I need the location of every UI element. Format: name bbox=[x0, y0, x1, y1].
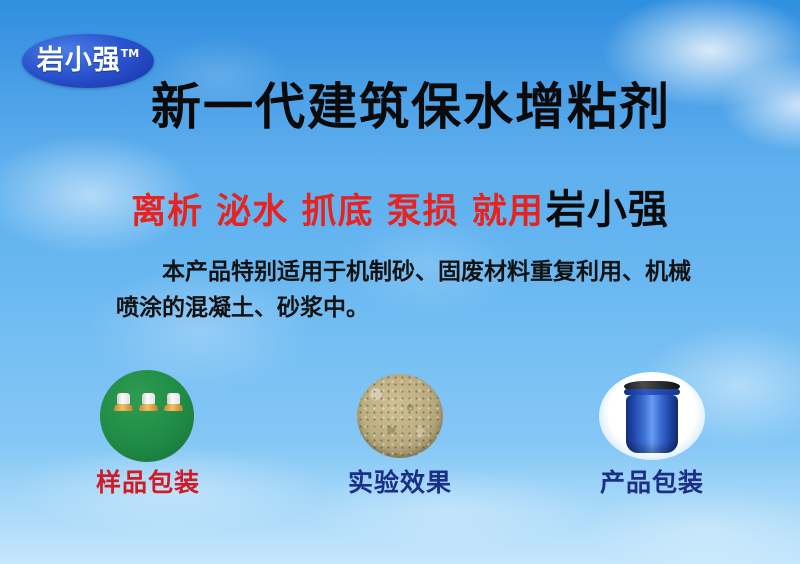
description-paragraph: 本产品特别适用于机制砂、固废材料重复利用、机械喷涂的混凝土、砂浆中。 bbox=[116, 255, 696, 326]
aggregate-texture bbox=[357, 374, 443, 458]
product-item-sample-packaging: 样品包装 bbox=[58, 368, 238, 495]
mortar-sample-image bbox=[341, 368, 459, 464]
bottle-icon bbox=[162, 393, 184, 449]
page-title: 新一代建筑保水增粘剂 bbox=[0, 78, 800, 136]
brand-logo-text: 岩小强 bbox=[37, 47, 121, 74]
product-caption: 样品包装 bbox=[96, 470, 200, 495]
drum-icon bbox=[624, 381, 680, 453]
slogan-brand: 岩小强 bbox=[546, 187, 669, 233]
product-item-test-result: 实验效果 bbox=[310, 368, 490, 495]
sample-bottles-image bbox=[89, 368, 207, 464]
promotional-poster: 岩小强 TM 新一代建筑保水增粘剂 离析 泌水 抓底 泵损 就用岩小强 本产品特… bbox=[0, 0, 800, 564]
bottle-icon bbox=[112, 393, 134, 449]
product-caption: 产品包装 bbox=[600, 470, 704, 495]
mortar-disc bbox=[357, 374, 443, 458]
product-showcase: 样品包装 实验效果 产品包装 bbox=[0, 368, 800, 495]
product-item-product-packaging: 产品包装 bbox=[562, 368, 742, 495]
bottle-icon bbox=[137, 393, 159, 449]
trademark-icon: TM bbox=[121, 48, 139, 59]
slogan-problems: 离析 泌水 抓底 泵损 就用 bbox=[131, 192, 544, 232]
product-caption: 实验效果 bbox=[348, 470, 452, 495]
drum-body bbox=[626, 395, 678, 453]
blue-drum-image bbox=[593, 368, 711, 464]
slogan-line: 离析 泌水 抓底 泵损 就用岩小强 bbox=[0, 186, 800, 234]
bottle-group-icon bbox=[112, 393, 184, 449]
